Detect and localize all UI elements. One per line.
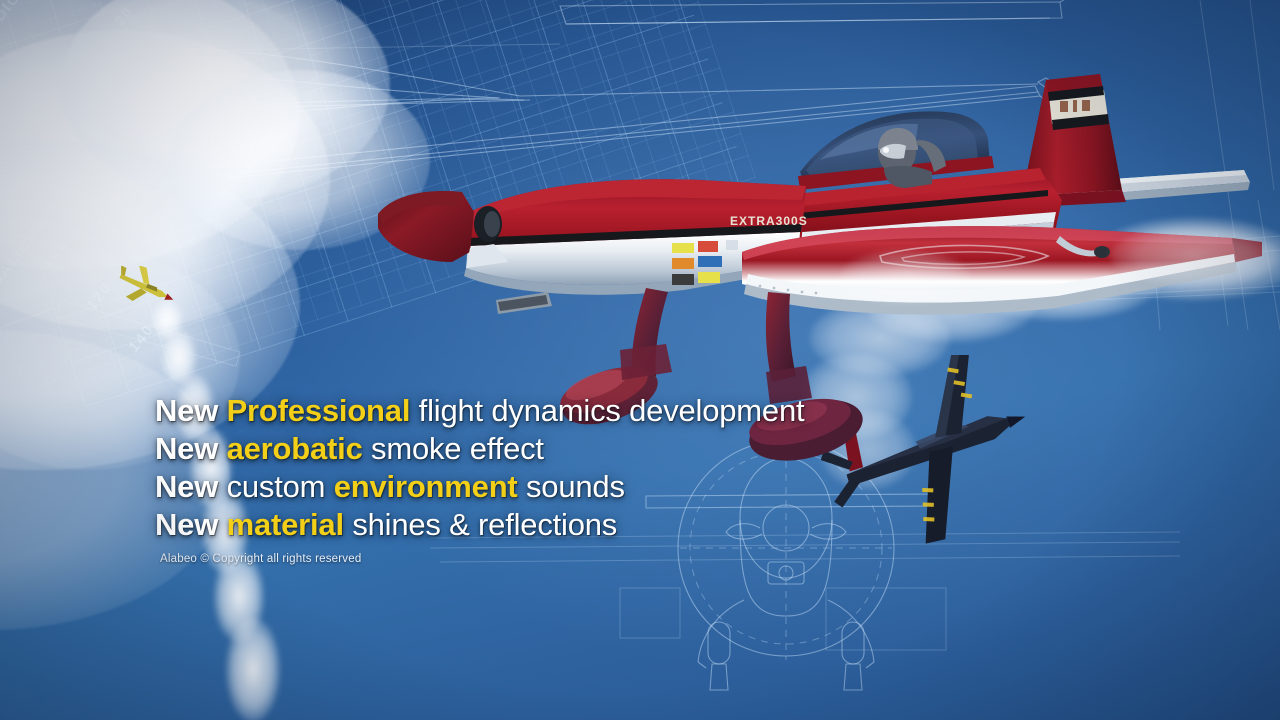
headline-2-rest: smoke effect: [371, 431, 544, 466]
headline-2-lead: New: [155, 431, 218, 466]
headline-4-rest: shines & reflections: [352, 507, 617, 542]
headline-row-3: New custom environment sounds: [155, 468, 915, 506]
headline-3-highlight: environment: [334, 469, 518, 504]
headline-row-1: New Professional flight dynamics develop…: [155, 392, 915, 430]
model-decal: EXTRA300S: [730, 214, 808, 228]
headline-1-highlight: Professional: [227, 393, 411, 428]
headline-3-rest: sounds: [526, 469, 625, 504]
headline-1-lead: New: [155, 393, 218, 428]
headline-1-rest: flight dynamics development: [419, 393, 805, 428]
splash-screen: INDICATED 20 80 100 120 140 CALIBRATED A…: [0, 0, 1280, 720]
headline-row-2: New aerobatic smoke effect: [155, 430, 915, 468]
copyright-notice: Alabeo © Copyright all rights reserved: [160, 553, 361, 565]
headline-3-mid: custom: [227, 469, 326, 504]
headline-2-highlight: aerobatic: [227, 431, 363, 466]
svg-text:EXTRA300S: EXTRA300S: [730, 214, 808, 228]
main-aircraft-extra-300s: EXTRA300S: [0, 0, 1280, 720]
forward-fuselage: [378, 179, 806, 314]
headline-row-4: New material shines & reflections: [155, 506, 915, 544]
feature-headline-list: New Professional flight dynamics develop…: [155, 392, 915, 544]
headline-4-lead: New: [155, 507, 218, 542]
headline-4-highlight: material: [227, 507, 344, 542]
headline-3-lead: New: [155, 469, 218, 504]
